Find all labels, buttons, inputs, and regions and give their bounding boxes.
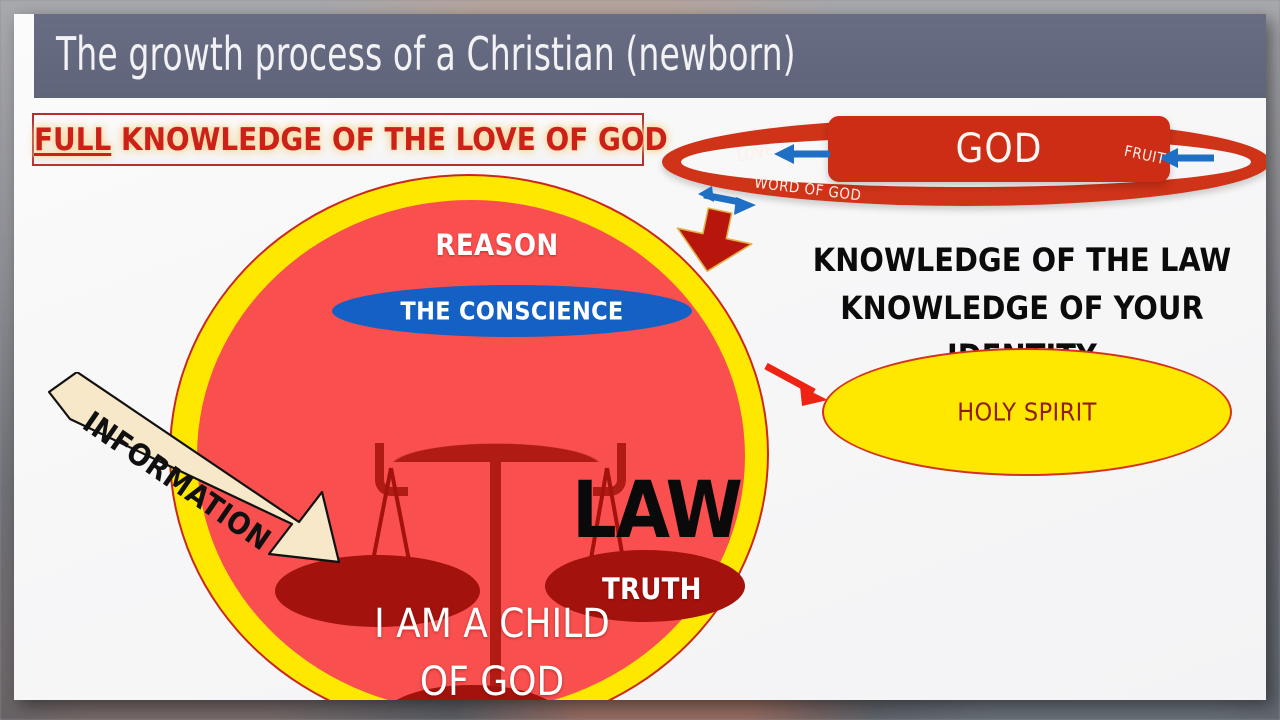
holy-spirit-label: HOLY SPIRIT [824,398,1230,427]
god-ring-group: GOD LOVE FRUIT WORD OF GOD [662,118,1266,223]
conscience-label: THE CONSCIENCE [332,297,692,326]
full-knowledge-underlined-word: FULL [34,122,111,158]
god-label: GOD [828,126,1170,172]
full-knowledge-rest: KNOWLEDGE OF THE LOVE OF GOD [111,122,667,158]
slide-title-bar: The growth process of a Christian (newbo… [34,14,1266,98]
information-arrow-group: INFORMATION [44,372,374,572]
knowledge-law-line: KNOWLEDGE OF THE LAW [772,236,1266,284]
presentation-slide: The growth process of a Christian (newbo… [14,14,1266,700]
conscience-ellipse: THE CONSCIENCE [332,285,692,337]
child-of-god-line-2: OF GOD [327,653,657,700]
holy-spirit-ellipse: HOLY SPIRIT [822,348,1232,476]
full-knowledge-text: FULL KNOWLEDGE OF THE LOVE OF GOD [34,122,642,158]
information-arrow-icon [44,372,374,572]
page-title: The growth process of a Christian (newbo… [56,23,796,85]
child-of-god-label: I AM A CHILD OF GOD [327,595,657,700]
law-label: LAW [572,472,742,550]
full-knowledge-banner: FULL KNOWLEDGE OF THE LOVE OF GOD [32,113,644,166]
god-box: GOD [828,116,1170,182]
child-of-god-line-1: I AM A CHILD [327,595,657,653]
reason-label: REASON [197,228,797,262]
